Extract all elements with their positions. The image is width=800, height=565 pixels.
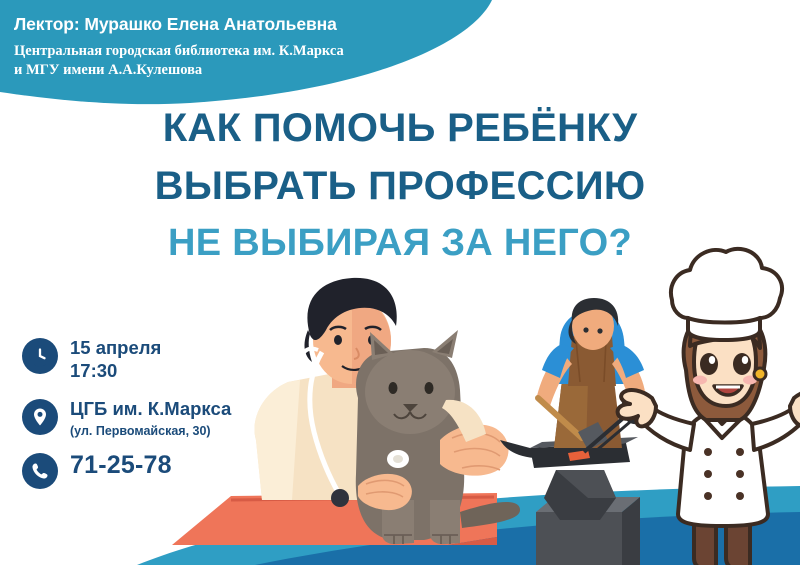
venue-text: ЦГБ им. К.Маркса (ул. Первомайская, 30) [70,397,231,439]
detail-row-datetime: 15 апреля 17:30 [22,336,262,383]
detail-row-phone: 71-25-78 [22,451,262,489]
event-details: 15 апреля 17:30 ЦГБ им. К.Маркса (ул. Пе… [22,336,262,503]
title-line-1: КАК ПОМОЧЬ РЕБЁНКУ [0,108,800,148]
lecturer-line: Лектор: Мурашко Елена Анатольевна [14,14,484,35]
event-time: 17:30 [70,360,161,383]
phone-number[interactable]: 71-25-78 [70,451,172,479]
venue-address: (ул. Первомайская, 30) [70,423,231,439]
header-text-block: Лектор: Мурашко Елена Анатольевна Центра… [14,14,484,81]
title-line-3: НЕ ВЫБИРАЯ ЗА НЕГО? [0,224,800,262]
phone-text: 71-25-78 [70,451,172,480]
clock-icon [22,338,58,374]
organization-line-1: Центральная городская библиотека им. К.М… [14,42,484,61]
event-date: 15 апреля [70,337,161,358]
venue-name: ЦГБ им. К.Маркса [70,398,231,419]
location-pin-icon [22,399,58,435]
organization-line-2: и МГУ имени А.А.Кулешова [14,61,484,80]
poster-canvas: Лектор: Мурашко Елена Анатольевна Центра… [0,0,800,565]
page-title: КАК ПОМОЧЬ РЕБЁНКУ ВЫБРАТЬ ПРОФЕССИЮ НЕ … [0,108,800,262]
phone-icon [22,453,58,489]
detail-row-venue: ЦГБ им. К.Маркса (ул. Первомайская, 30) [22,397,262,439]
datetime-text: 15 апреля 17:30 [70,336,161,383]
title-line-2: ВЫБРАТЬ ПРОФЕССИЮ [0,166,800,206]
